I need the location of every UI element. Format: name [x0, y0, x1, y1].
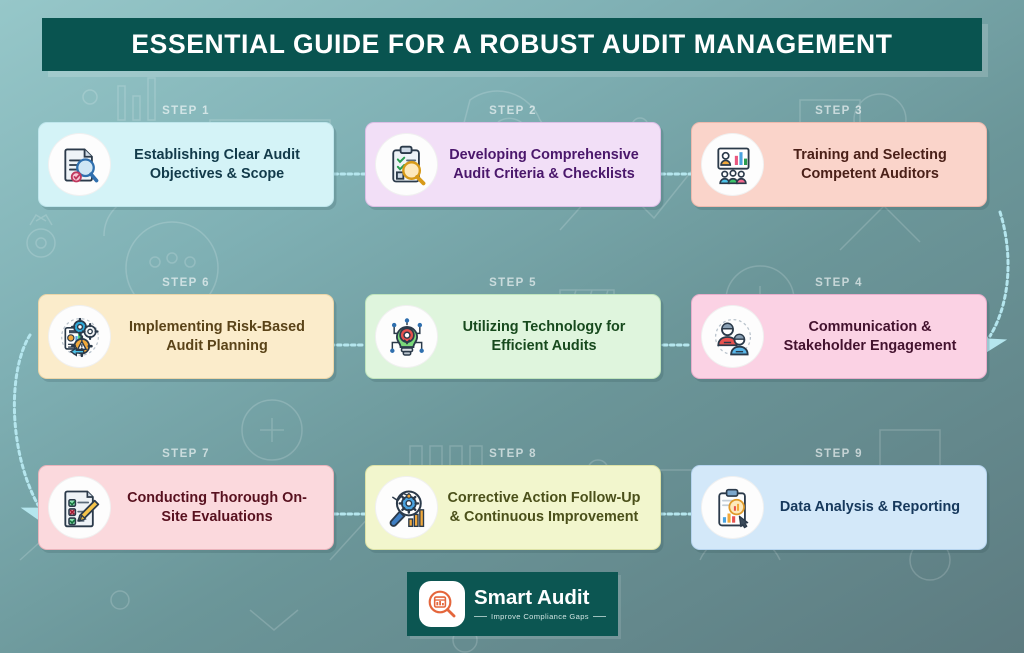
logo-tagline: Improve Compliance Gaps: [491, 612, 589, 621]
step-title-4: Communication & Stakeholder Engagement: [764, 318, 976, 354]
training-presentation-icon: [701, 133, 764, 196]
tagline-rule-right: [593, 616, 606, 617]
step-title-3: Training and Selecting Competent Auditor…: [764, 146, 976, 182]
step-label-7: STEP 7: [38, 448, 334, 460]
step-card-5[interactable]: STEP 5 U: [365, 277, 661, 379]
page-title: ESSENTIAL GUIDE FOR A ROBUST AUDIT MANAG…: [131, 29, 892, 60]
brand-logo[interactable]: Smart Audit Improve Compliance Gaps: [407, 572, 618, 636]
tech-lightbulb-gear-icon: [375, 305, 438, 368]
step-label-6: STEP 6: [38, 277, 334, 289]
step-card-8[interactable]: STEP 8: [365, 448, 661, 550]
step-label-8: STEP 8: [365, 448, 661, 460]
step-label-3: STEP 3: [691, 105, 987, 117]
step-title-5: Utilizing Technology for Efficient Audit…: [438, 318, 650, 354]
step-card-2[interactable]: STEP 2 Developing Comprehensive: [365, 105, 661, 207]
clipboard-magnifier-icon: [375, 133, 438, 196]
step-card-1[interactable]: STEP 1 Establishing Clear Audit Objectiv…: [38, 105, 334, 207]
document-magnifier-icon: [48, 133, 111, 196]
clipboard-chart-icon: [701, 476, 764, 539]
gears-risk-warning-icon: [48, 305, 111, 368]
logo-name: Smart Audit: [474, 587, 606, 609]
tagline-rule-left: [474, 616, 487, 617]
step-card-7[interactable]: STEP 7 Condu: [38, 448, 334, 550]
step-card-9[interactable]: STEP 9 Data Analysis &: [691, 448, 987, 550]
title-banner: ESSENTIAL GUIDE FOR A ROBUST AUDIT MANAG…: [42, 18, 982, 71]
step-card-4[interactable]: STEP 4 Communication & Stakeholder Engag…: [691, 277, 987, 379]
step-card-3[interactable]: STEP 3 Training and Sel: [691, 105, 987, 207]
step-title-2: Developing Comprehensive Audit Criteria …: [438, 146, 650, 182]
step-title-7: Conducting Thorough On-Site Evaluations: [111, 489, 323, 525]
step-title-6: Implementing Risk-Based Audit Planning: [111, 318, 323, 354]
step-title-9: Data Analysis & Reporting: [764, 498, 976, 516]
step-title-1: Establishing Clear Audit Objectives & Sc…: [111, 146, 323, 182]
logo-tagline-wrap: Improve Compliance Gaps: [474, 612, 606, 621]
step-card-6[interactable]: STEP 6: [38, 277, 334, 379]
checklist-pencil-icon: [48, 476, 111, 539]
step-label-2: STEP 2: [365, 105, 661, 117]
step-title-8: Corrective Action Follow-Up & Continuous…: [438, 489, 650, 525]
step-label-5: STEP 5: [365, 277, 661, 289]
step-label-4: STEP 4: [691, 277, 987, 289]
two-people-icon: [701, 305, 764, 368]
step-label-9: STEP 9: [691, 448, 987, 460]
magnifier-gear-chart-icon: [375, 476, 438, 539]
step-label-1: STEP 1: [38, 105, 334, 117]
magnifier-chart-logo-icon: [419, 581, 465, 627]
